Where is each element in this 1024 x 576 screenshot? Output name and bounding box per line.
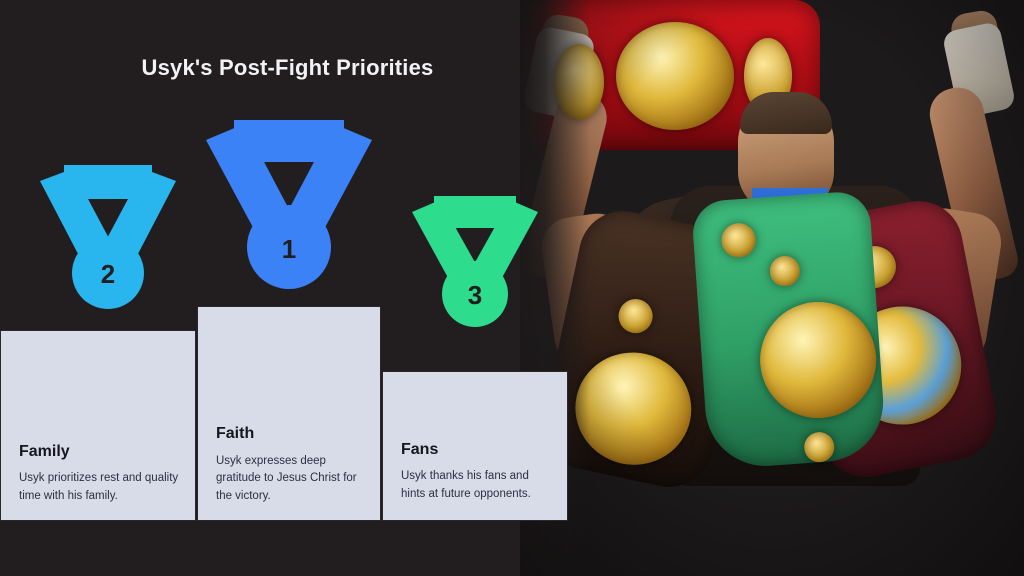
belt-plate-red-front <box>616 22 734 130</box>
podium-body: Usyk prioritizes rest and quality time w… <box>19 470 179 506</box>
hair <box>740 92 832 134</box>
podium-card-faith[interactable]: Faith Usyk expresses deep gratitude to J… <box>197 306 381 521</box>
belt-plate-green <box>756 298 880 422</box>
boxer-photo <box>520 0 1024 576</box>
medal-number-1: 1 <box>282 234 296 264</box>
podium-heading: Fans <box>401 441 551 459</box>
belt-plate-brown-mini <box>615 296 655 336</box>
medal-number-2: 2 <box>101 259 115 289</box>
medal-number-3: 3 <box>468 280 482 310</box>
championship-belt-green <box>691 190 887 470</box>
belt-plate-brown <box>565 342 702 476</box>
podium-body: Usyk expresses deep gratitude to Jesus C… <box>216 453 364 506</box>
podium-card-fans[interactable]: Fans Usyk thanks his fans and hints at f… <box>382 371 568 521</box>
belt-plate-green-mini-a <box>720 222 756 258</box>
medal-rank-3: 3 <box>404 190 546 332</box>
page-title: Usyk's Post-Fight Priorities <box>0 55 575 81</box>
podium-card-family[interactable]: Family Usyk prioritizes rest and quality… <box>0 330 196 521</box>
medal-rank-2: 2 <box>28 155 188 315</box>
podium-heading: Faith <box>216 425 364 443</box>
belt-plate-green-mini-c <box>803 431 835 463</box>
podium-body: Usyk thanks his fans and hints at future… <box>401 468 551 504</box>
medal-rank-1: 1 <box>196 110 382 296</box>
podium-heading: Family <box>19 443 179 461</box>
belt-plate-green-mini-b <box>769 255 801 287</box>
infographic-canvas: Usyk's Post-Fight Priorities 2 1 <box>0 0 1024 576</box>
